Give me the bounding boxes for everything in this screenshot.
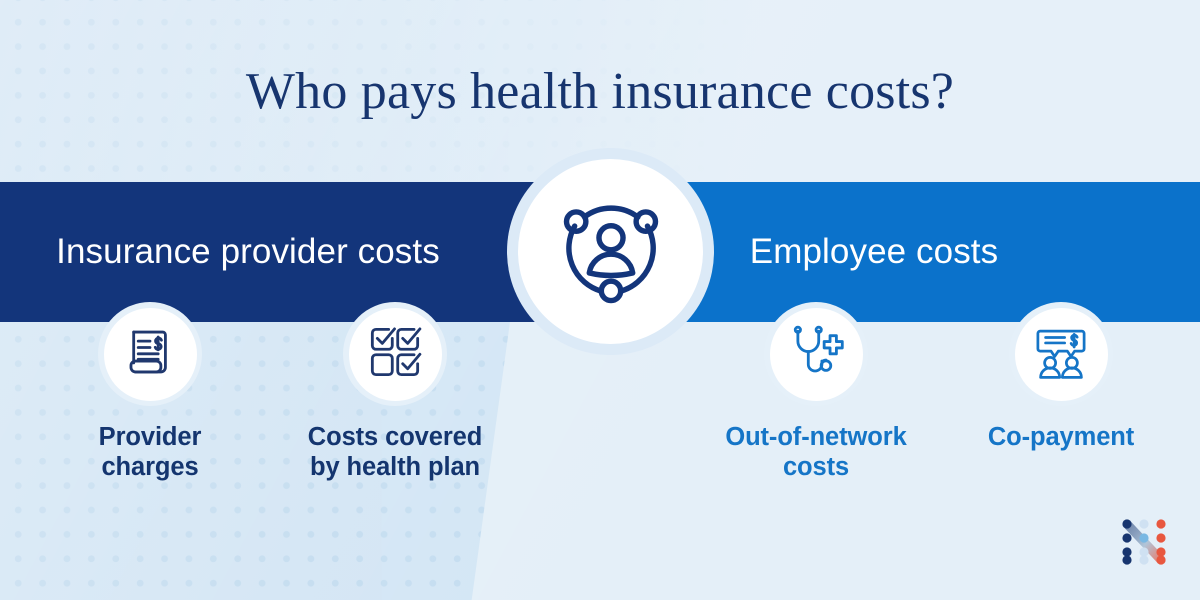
item-label-line2: by health plan	[287, 453, 503, 483]
banner-insurance-provider-label: Insurance provider costs	[0, 232, 538, 272]
item-costs-covered-by-health-plan[interactable]: Costs covered by health plan	[287, 302, 503, 483]
invoice-dollar-icon	[121, 323, 179, 386]
people-speech-dollar-icon	[1032, 323, 1090, 386]
item-provider-charges[interactable]: Provider charges	[42, 302, 258, 483]
infographic-canvas: Who pays health insurance costs? Insuran…	[0, 0, 1200, 600]
stethoscope-cross-icon	[787, 323, 845, 386]
item-circle-halo	[98, 302, 202, 406]
item-label: Provider charges	[42, 423, 258, 483]
center-hub	[518, 159, 703, 344]
n-dots-logo	[1116, 516, 1172, 568]
checklist-icon	[366, 323, 424, 386]
item-label-line1: Out-of-network	[708, 423, 924, 453]
item-circle-halo	[764, 302, 868, 406]
item-label-line1: Co-payment	[953, 423, 1169, 453]
item-icon-circle	[104, 308, 197, 401]
item-label-line2: costs	[708, 453, 924, 483]
page-title: Who pays health insurance costs?	[0, 62, 1200, 121]
item-circle-halo	[343, 302, 447, 406]
item-label-line1: Costs covered	[287, 423, 503, 453]
item-label: Co-payment	[953, 423, 1169, 453]
item-label: Costs covered by health plan	[287, 423, 503, 483]
item-label: Out-of-network costs	[708, 423, 924, 483]
item-label-line2: charges	[42, 453, 258, 483]
network-person-icon	[552, 190, 670, 313]
item-out-of-network-costs[interactable]: Out-of-network costs	[708, 302, 924, 483]
item-icon-circle	[349, 308, 442, 401]
item-label-line1: Provider	[42, 423, 258, 453]
item-co-payment[interactable]: Co-payment	[953, 302, 1169, 453]
banner-insurance-provider: Insurance provider costs	[0, 182, 538, 322]
item-icon-circle	[770, 308, 863, 401]
item-icon-circle	[1015, 308, 1108, 401]
item-circle-halo	[1009, 302, 1113, 406]
